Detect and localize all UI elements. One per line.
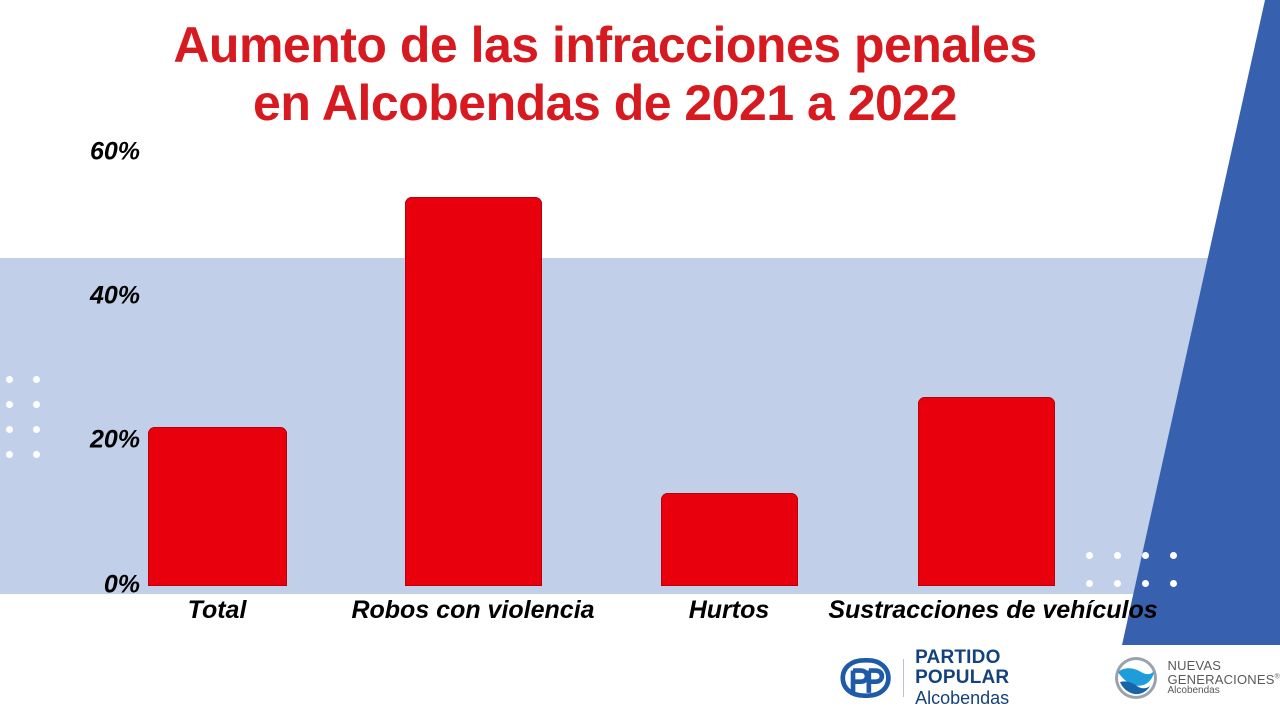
slide-canvas: Aumento de las infracciones penales en A…	[0, 0, 1280, 720]
pp-name: PARTIDO POPULAR	[915, 648, 1087, 689]
bar-sustracciones-de-vehiculos	[918, 397, 1055, 586]
title-line-1: Aumento de las infracciones penales	[173, 17, 1036, 73]
nuevas-generaciones-wordmark: NUEVAS GENERACIONES® Alcobendas	[1167, 659, 1280, 697]
ng-name-line-1: NUEVAS	[1167, 659, 1280, 673]
x-axis-label-total: Total	[188, 596, 247, 625]
y-axis-label-40: 40%	[20, 282, 140, 311]
partido-popular-logo: PARTIDO POPULAR Alcobendas	[840, 648, 1087, 708]
bar-total	[148, 427, 287, 586]
bar-robos-con-violencia	[405, 197, 542, 586]
nuevas-generaciones-logo-icon	[1113, 655, 1159, 701]
y-axis-label-20: 20%	[20, 426, 140, 455]
y-axis-label-60: 60%	[20, 138, 140, 167]
y-axis-label-0: 0%	[20, 571, 140, 600]
nuevas-generaciones-logo: NUEVAS GENERACIONES® Alcobendas	[1113, 655, 1280, 701]
x-axis-label-robos-con-violencia: Robos con violencia	[351, 596, 594, 625]
footer-logos: PARTIDO POPULAR Alcobendas NUEVAS GENERA…	[840, 648, 1280, 708]
x-axis-label-sustracciones-de-vehiculos: Sustracciones de vehículos	[828, 596, 1157, 625]
title-line-2: en Alcobendas de 2021 a 2022	[40, 74, 1170, 132]
partido-popular-wordmark: PARTIDO POPULAR Alcobendas	[915, 648, 1087, 708]
pp-locality: Alcobendas	[915, 689, 1087, 708]
logo-divider	[903, 659, 904, 697]
ng-name-line-2: GENERACIONES®	[1167, 673, 1280, 687]
page-title: Aumento de las infracciones penales en A…	[40, 16, 1170, 132]
x-axis-label-hurtos: Hurtos	[689, 596, 770, 625]
bar-hurtos	[661, 493, 798, 586]
pp-logo-icon	[840, 656, 892, 700]
ng-locality: Alcobendas	[1167, 686, 1280, 697]
